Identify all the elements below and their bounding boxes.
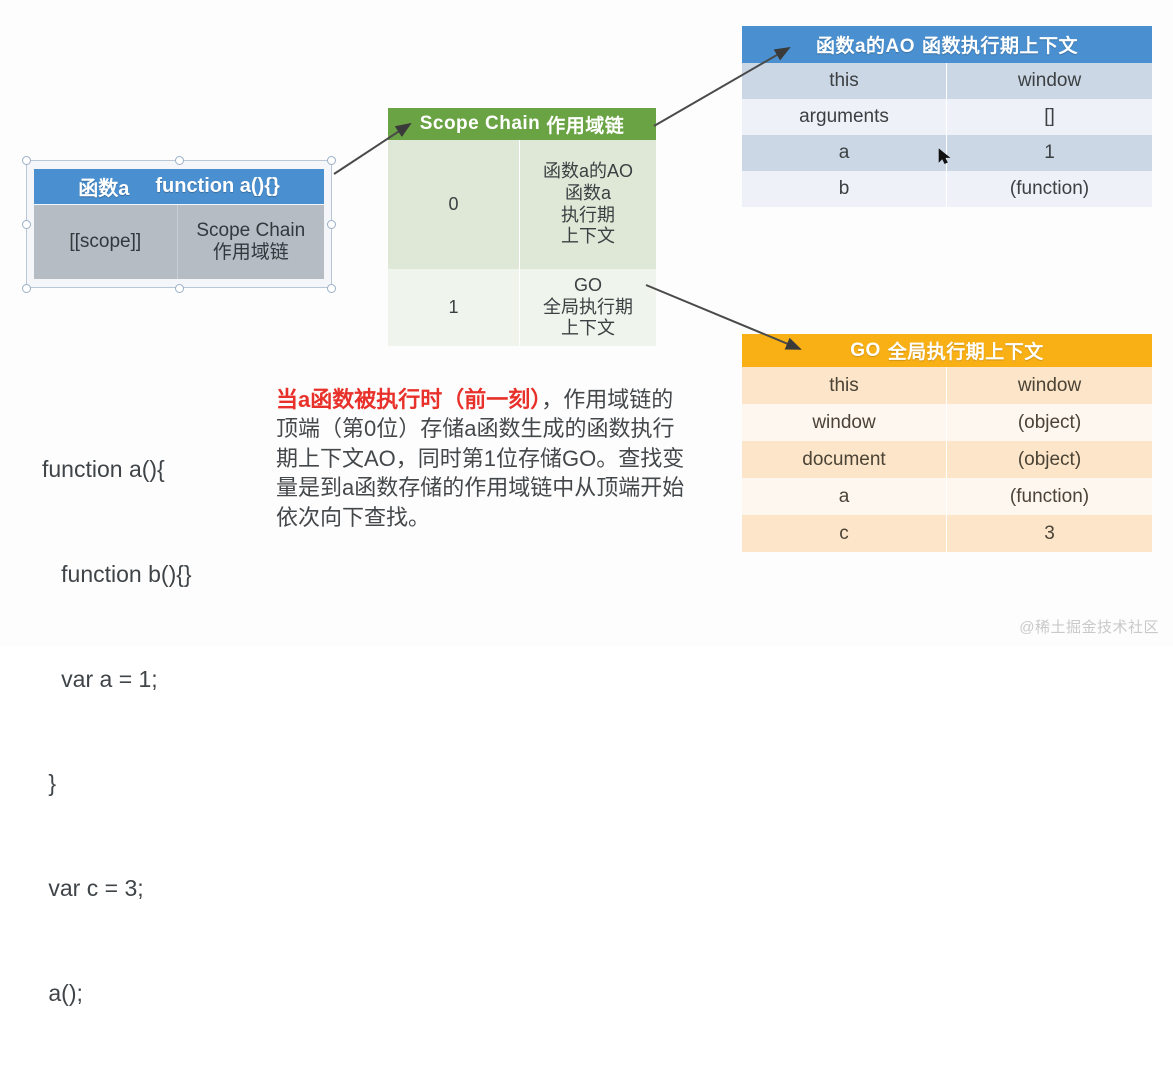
scope-chain-table[interactable]: Scope Chain 作用域链 0 函数a的AO 函数a 执行期 上下文 1 …: [388, 108, 656, 346]
scope-property-cell: [[scope]]: [34, 205, 178, 279]
table-row: 0 函数a的AO 函数a 执行期 上下文: [388, 140, 656, 269]
go-key-1: window: [742, 404, 947, 441]
ao-table-header: 函数a的AO 函数执行期上下文: [742, 26, 1152, 63]
ao-key-1: arguments: [742, 99, 947, 135]
resize-handle-top-left[interactable]: [22, 156, 31, 165]
ao-table[interactable]: 函数a的AO 函数执行期上下文 this window arguments []…: [742, 26, 1152, 207]
ao-key-0: this: [742, 63, 947, 99]
scope-chain-value-line2: 作用域链: [213, 242, 289, 264]
ao-value-1: []: [947, 99, 1152, 135]
function-a-header-label-code: function a(){}: [155, 175, 279, 198]
go-header-label-en: GO: [850, 340, 881, 362]
scope-chain-value-1: GO 全局执行期 上下文: [520, 269, 656, 346]
resize-handle-top-center[interactable]: [175, 156, 184, 165]
table-row: b (function): [742, 171, 1152, 207]
go-key-4: c: [742, 515, 947, 552]
table-row: this window: [742, 367, 1152, 404]
table-row: a (function): [742, 478, 1152, 515]
go-key-2: document: [742, 441, 947, 478]
go-value-2: (object): [947, 441, 1152, 478]
ao-key-2: a: [742, 135, 947, 171]
scope-chain-value-0-line2: 函数a: [565, 183, 611, 205]
table-row: c 3: [742, 515, 1152, 552]
go-value-3: (function): [947, 478, 1152, 515]
scope-chain-value-1-line1: GO: [574, 275, 602, 297]
table-row: arguments []: [742, 99, 1152, 135]
scope-chain-value-line1: Scope Chain: [196, 220, 305, 242]
scope-chain-header-zh: 作用域链: [546, 111, 624, 138]
code-line-3: var a = 1;: [42, 662, 282, 697]
description-text: 当a函数被执行时（前一刻），作用域链的顶端（第0位）存储a函数生成的函数执行期上…: [276, 385, 688, 532]
go-key-0: this: [742, 367, 947, 404]
table-row: a 1: [742, 135, 1152, 171]
scope-chain-index-0: 0: [388, 140, 520, 269]
go-value-1: (object): [947, 404, 1152, 441]
table-row: 1 GO 全局执行期 上下文: [388, 269, 656, 346]
function-a-shape[interactable]: 函数a function a(){} [[scope]] Scope Chain…: [26, 160, 332, 288]
go-table-header: GO 全局执行期上下文: [742, 334, 1152, 367]
go-value-4: 3: [947, 515, 1152, 552]
code-line-4: }: [42, 766, 282, 801]
scope-chain-header-en: Scope Chain: [420, 113, 541, 135]
go-table[interactable]: GO 全局执行期上下文 this window window (object) …: [742, 334, 1152, 552]
scope-chain-value-0: 函数a的AO 函数a 执行期 上下文: [520, 140, 656, 269]
description-highlight: 当a函数被执行时（前一刻）: [276, 387, 541, 412]
function-a-body: [[scope]] Scope Chain 作用域链: [34, 205, 324, 279]
diagram-canvas: 函数a function a(){} [[scope]] Scope Chain…: [0, 0, 1173, 647]
ao-key-3: b: [742, 171, 947, 207]
table-row: this window: [742, 63, 1152, 99]
scope-chain-value-1-line3: 上下文: [561, 318, 615, 340]
ao-value-2: 1: [947, 135, 1152, 171]
ao-header-label-1: 函数a的AO: [816, 31, 915, 58]
function-a-box[interactable]: 函数a function a(){} [[scope]] Scope Chain…: [34, 169, 324, 279]
go-value-0: window: [947, 367, 1152, 404]
ao-value-0: window: [947, 63, 1152, 99]
resize-handle-middle-right[interactable]: [327, 220, 336, 229]
ao-header-label-2: 函数执行期上下文: [922, 31, 1078, 58]
go-key-3: a: [742, 478, 947, 515]
table-row: document (object): [742, 441, 1152, 478]
code-line-6: a();: [42, 976, 282, 1011]
scope-chain-value-0-line1: 函数a的AO: [543, 161, 633, 183]
table-row: window (object): [742, 404, 1152, 441]
scope-chain-value-cell: Scope Chain 作用域链: [178, 205, 325, 279]
code-snippet: function a(){ function b(){} var a = 1; …: [42, 382, 282, 1081]
scope-chain-header: Scope Chain 作用域链: [388, 108, 656, 140]
resize-handle-bottom-center[interactable]: [175, 284, 184, 293]
scope-chain-value-0-line3: 执行期: [561, 205, 615, 227]
code-line-5: var c = 3;: [42, 871, 282, 906]
scope-chain-index-1: 1: [388, 269, 520, 346]
scope-chain-value-0-line4: 上下文: [561, 226, 615, 248]
function-a-header-label-zh: 函数a: [78, 172, 129, 201]
watermark: @稀土掘金技术社区: [1019, 616, 1159, 637]
scope-chain-value-1-line2: 全局执行期: [543, 297, 633, 319]
resize-handle-bottom-right[interactable]: [327, 284, 336, 293]
resize-handle-top-right[interactable]: [327, 156, 336, 165]
code-line-1: function a(){: [42, 452, 282, 487]
resize-handle-middle-left[interactable]: [22, 220, 31, 229]
ao-value-3: (function): [947, 171, 1152, 207]
go-header-label-zh: 全局执行期上下文: [888, 337, 1044, 364]
function-a-header: 函数a function a(){}: [34, 169, 324, 204]
code-line-2: function b(){}: [42, 557, 282, 592]
resize-handle-bottom-left[interactable]: [22, 284, 31, 293]
